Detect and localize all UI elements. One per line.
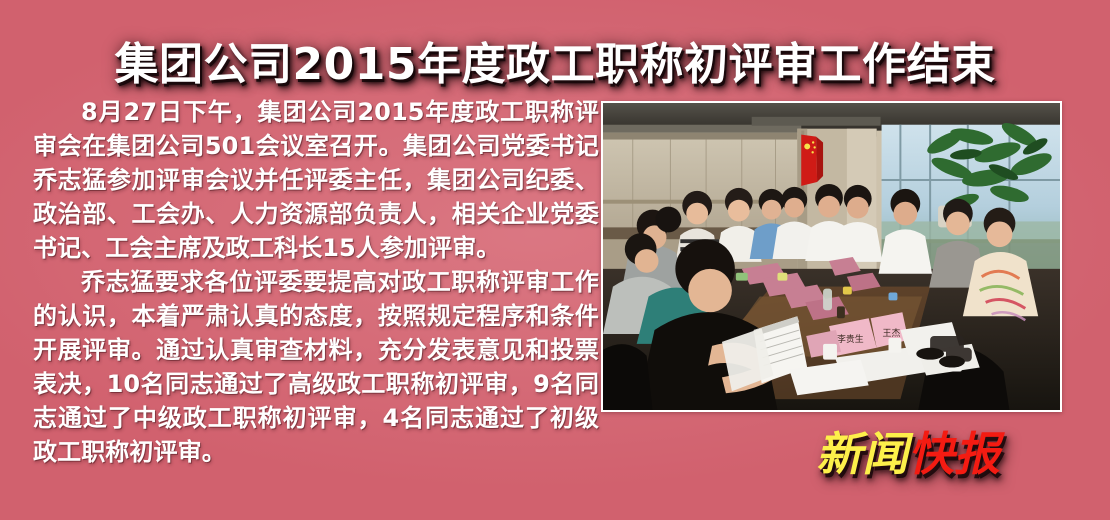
meeting-photo: 李贵生 王杰 (603, 103, 1060, 410)
news-poster: 集团公司2015年度政工职称初评审工作结束 8月27日下午，集团公司2015年度… (0, 0, 1110, 520)
stamp-part-2: 快报 (906, 427, 1010, 481)
article-paragraph-2: 乔志猛要求各位评委要提高对政工职称评审工作的认识，本着严肃认真的态度，按照规定程… (33, 265, 599, 469)
article-paragraph-1: 8月27日下午，集团公司2015年度政工职称评审会在集团公司501会议室召开。集… (33, 95, 599, 265)
news-flash-stamp: 新闻快报 (814, 428, 1010, 480)
photo-frame: 李贵生 王杰 (601, 101, 1062, 412)
svg-text:王杰: 王杰 (883, 327, 901, 339)
svg-text:李贵生: 李贵生 (837, 333, 864, 345)
article-body: 8月27日下午，集团公司2015年度政工职称评审会在集团公司501会议室召开。集… (33, 95, 599, 469)
page-title: 集团公司2015年度政工职称初评审工作结束 (0, 37, 1110, 93)
stamp-part-1: 新闻 (814, 427, 918, 481)
